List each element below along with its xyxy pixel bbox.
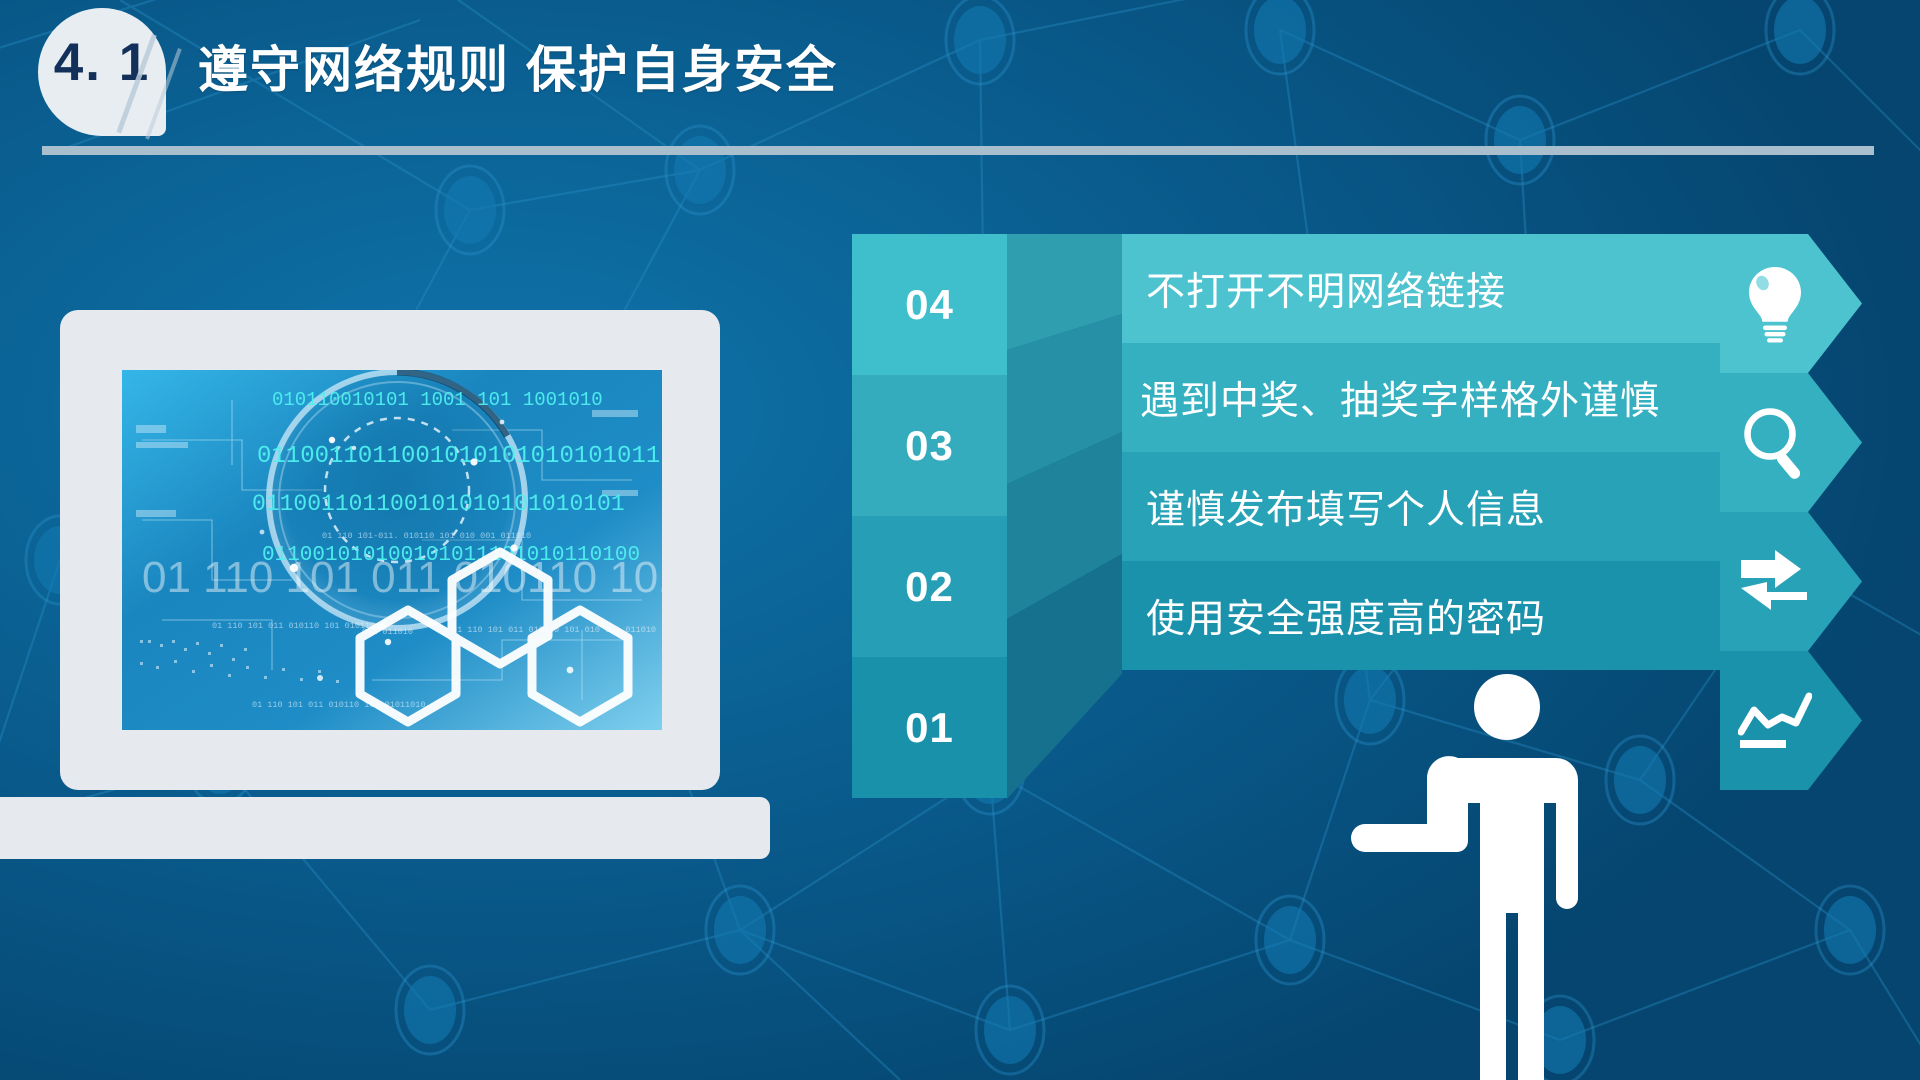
svg-text:011001101100101010101010101: 011001101100101010101010101 [252,491,625,517]
laptop-notch [305,797,455,823]
list-item-row[interactable]: 谨慎发布填写个人信息 [1122,452,1722,561]
wedge-shapes [1007,234,1122,799]
number-cell-03[interactable]: 03 [852,375,1007,516]
screen-graphic: 010110010101 1001 101 1001010 0110011011… [122,370,662,730]
screen-small-1: 01 110 101-011. 010110 101 010 001 01101… [322,531,531,541]
number-label: 04 [905,281,954,329]
number-cell-04[interactable]: 04 [852,234,1007,375]
section-number-label: 4. 1 [38,30,166,96]
number-label: 03 [905,422,954,470]
page-title: 遵守网络规则 保护自身安全 [198,30,838,102]
wedge-connector-column [1007,234,1122,799]
chevron-item-4[interactable] [1720,651,1862,790]
list-item-row[interactable]: 不打开不明网络链接 [1122,234,1722,343]
list-item-row[interactable]: 遇到中奖、抽奖字样格外谨慎 [1122,343,1722,452]
lightbulb-icon [1720,234,1830,373]
slide-root: 4. 1 遵守网络规则 保护自身安全 [0,0,1920,1080]
header-divider [42,146,1874,155]
screen-binary-top: 010110010101 1001 101 1001010 [272,389,603,411]
icon-chevron-column [1720,234,1862,799]
list-item-text: 使用安全强度高的密码 [1146,588,1722,644]
line-chart-icon [1720,651,1830,790]
number-label: 01 [905,704,954,752]
chevron-item-2[interactable] [1720,373,1862,512]
svg-text:01 110 101 011 010110 101 0101: 01 110 101 011 010110 101 01011010 [252,700,425,710]
chevron-item-1[interactable] [1720,234,1862,373]
screen-caption: 01 110 101 011 010110 101 01011 [142,553,662,602]
list-item-text: 谨慎发布填写个人信息 [1146,479,1722,535]
number-cell-01[interactable]: 01 [852,657,1007,798]
list-item-text: 遇到中奖、抽奖字样格外谨慎 [1140,370,1722,426]
laptop-screen: 010110010101 1001 101 1001010 0110011011… [122,370,662,730]
number-label: 02 [905,563,954,611]
number-column: 04 03 02 01 [852,234,1007,799]
list-item-text: 不打开不明网络链接 [1146,261,1722,317]
chevron-item-3[interactable] [1720,512,1862,651]
text-column: 不打开不明网络链接 遇到中奖、抽奖字样格外谨慎 谨慎发布填写个人信息 使用安全强… [1122,234,1722,669]
number-cell-02[interactable]: 02 [852,516,1007,657]
exchange-arrow-icon [1720,512,1830,651]
list-item-row[interactable]: 使用安全强度高的密码 [1122,561,1722,670]
slide-header: 4. 1 遵守网络规则 保护自身安全 [0,0,1920,190]
laptop-illustration: 010110010101 1001 101 1001010 0110011011… [0,300,790,860]
screen-binary-mid: 0110011011001010101010101011 [257,443,660,470]
standing-person-figure [1335,670,1635,1080]
magnifier-icon [1720,373,1830,512]
svg-text:01 110 101 011 010110 101 0101: 01 110 101 011 010110 101 01011010 [212,621,385,631]
